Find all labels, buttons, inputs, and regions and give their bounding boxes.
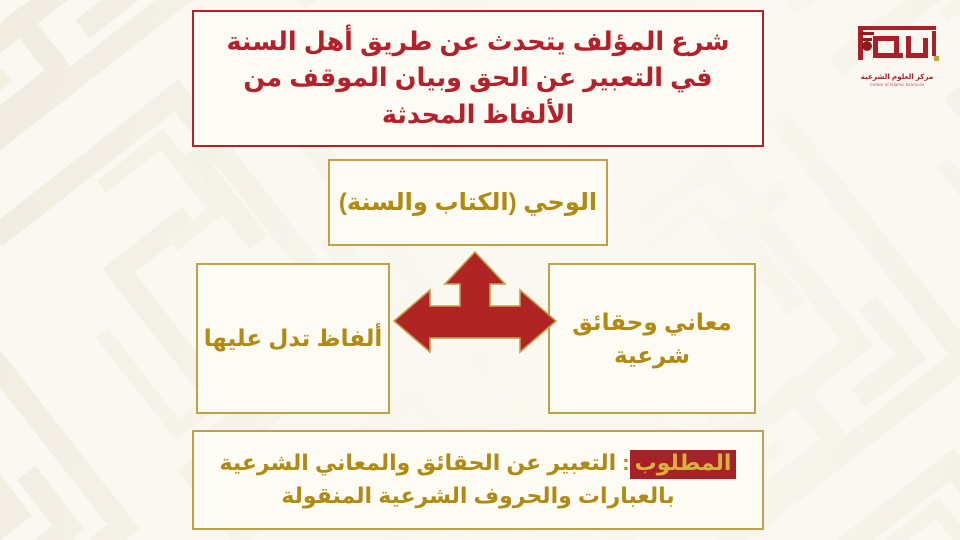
title-text: شرع المؤلف يتحدث عن طريق أهل السنة في ال… (208, 24, 748, 133)
status-badge: المطلوب (630, 450, 737, 479)
diagram-node-meanings-label: معاني وحقائق شرعية (550, 306, 754, 370)
logo: مركز العلوم الشرعية Center of Islamic Sc… (849, 22, 945, 96)
diagram-node-wordings-label: ألفاظ تدل عليها (204, 323, 383, 354)
slide-canvas: شرع المؤلف يتحدث عن طريق أهل السنة في ال… (0, 0, 960, 540)
diagram-node-meanings: معاني وحقائق شرعية (548, 263, 756, 414)
three-way-arrow-icon (392, 250, 558, 364)
requirement-text: : التعبير عن الحقائق والمعاني الشرعية با… (220, 450, 675, 508)
title-box: شرع المؤلف يتحدث عن طريق أهل السنة في ال… (192, 10, 764, 147)
logo-wordmark-icon (849, 22, 945, 70)
diagram-node-revelation: الوحي (الكتاب والسنة) (328, 159, 608, 246)
logo-subtitle-latin: Center of Islamic Sciences (849, 82, 945, 87)
diagram-node-revelation-label: الوحي (الكتاب والسنة) (339, 187, 597, 218)
diagram-node-wordings: ألفاظ تدل عليها (196, 263, 390, 414)
requirement-box: المطلوب: التعبير عن الحقائق والمعاني الش… (192, 430, 764, 530)
ihkam-wordmark-icon (849, 22, 945, 70)
logo-subtitle: مركز العلوم الشرعية (849, 72, 945, 81)
requirement-text-wrapper: المطلوب: التعبير عن الحقائق والمعاني الش… (210, 447, 746, 512)
